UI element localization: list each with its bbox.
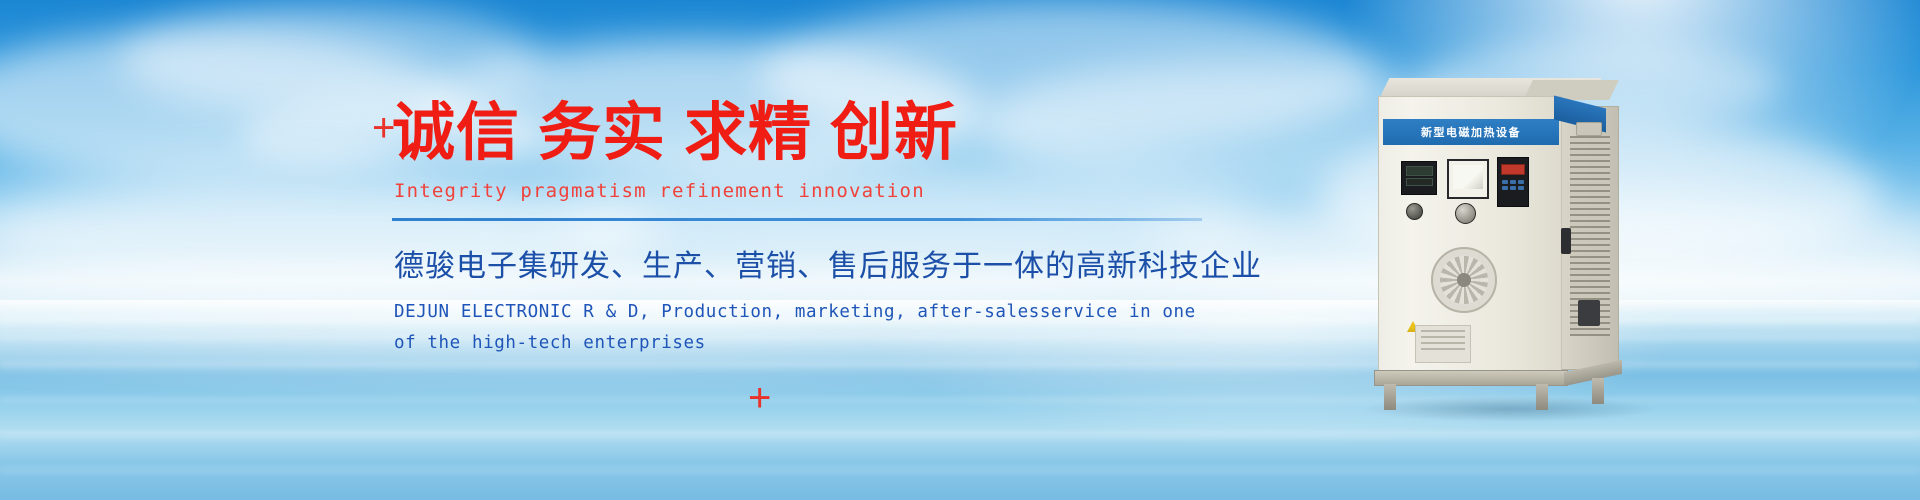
product-leg — [1384, 384, 1396, 410]
analog-ammeter — [1447, 159, 1489, 199]
wave-line — [0, 432, 1920, 438]
hero-banner: + + 诚信务实求精创新 Integrity pragmatism refine… — [0, 0, 1920, 500]
controller-display-bottom — [1406, 178, 1433, 186]
power-switch-knob — [1406, 203, 1423, 220]
spec-plate-line — [1421, 342, 1465, 344]
temperature-controller — [1401, 161, 1437, 195]
headline-word-1: 诚信 — [392, 96, 520, 169]
led-display — [1501, 164, 1525, 175]
spec-plate-line — [1421, 336, 1465, 338]
keypad-key — [1510, 186, 1516, 190]
description-paragraph: DEJUN ELECTRONIC R & D, Production, mark… — [394, 297, 1272, 358]
product-leg — [1592, 378, 1604, 404]
spec-plate-line — [1421, 348, 1465, 350]
keypad — [1502, 180, 1524, 190]
controller-display-top — [1406, 166, 1433, 176]
plus-decoration-bottom: + — [748, 378, 771, 418]
side-handle — [1576, 122, 1602, 136]
keypad-key — [1518, 180, 1524, 184]
description-line-2: of the high-tech enterprises — [394, 328, 1272, 359]
banner-copy: 诚信务实求精创新 Integrity pragmatism refinement… — [392, 96, 1272, 359]
headline-word-3: 求精 — [684, 96, 812, 169]
product-front-panel: 新型电磁加热设备 — [1378, 96, 1562, 374]
product-image-heating-equipment: 新型电磁加热设备 — [1378, 78, 1628, 408]
wave-line — [0, 468, 1920, 473]
spec-plate — [1415, 325, 1471, 363]
lead-statement: 德骏电子集研发、生产、营销、售后服务于一体的高新科技企业 — [394, 241, 1272, 285]
side-connector-block — [1578, 300, 1600, 326]
cooling-fan-icon — [1431, 247, 1497, 313]
keypad-key — [1502, 180, 1508, 184]
headline-word-4: 创新 — [830, 96, 958, 169]
keypad-key — [1510, 180, 1516, 184]
product-leg — [1536, 384, 1548, 410]
headline-word-2: 务实 — [538, 96, 666, 169]
keypad-key — [1502, 186, 1508, 190]
description-line-1: DEJUN ELECTRONIC R & D, Production, mark… — [394, 297, 1272, 328]
spec-plate-line — [1421, 330, 1465, 332]
page-title: 诚信务实求精创新 — [392, 96, 1272, 170]
divider — [392, 218, 1202, 221]
headline-subtitle: Integrity pragmatism refinement innovati… — [394, 180, 1272, 202]
keypad-key — [1518, 186, 1524, 190]
product-label-text: 新型电磁加热设备 — [1421, 124, 1521, 140]
wave-line — [0, 362, 1920, 367]
door-latch — [1561, 228, 1571, 254]
keypad-controller — [1497, 157, 1529, 207]
adjustment-knob — [1455, 203, 1476, 224]
product-label-banner: 新型电磁加热设备 — [1383, 119, 1559, 145]
